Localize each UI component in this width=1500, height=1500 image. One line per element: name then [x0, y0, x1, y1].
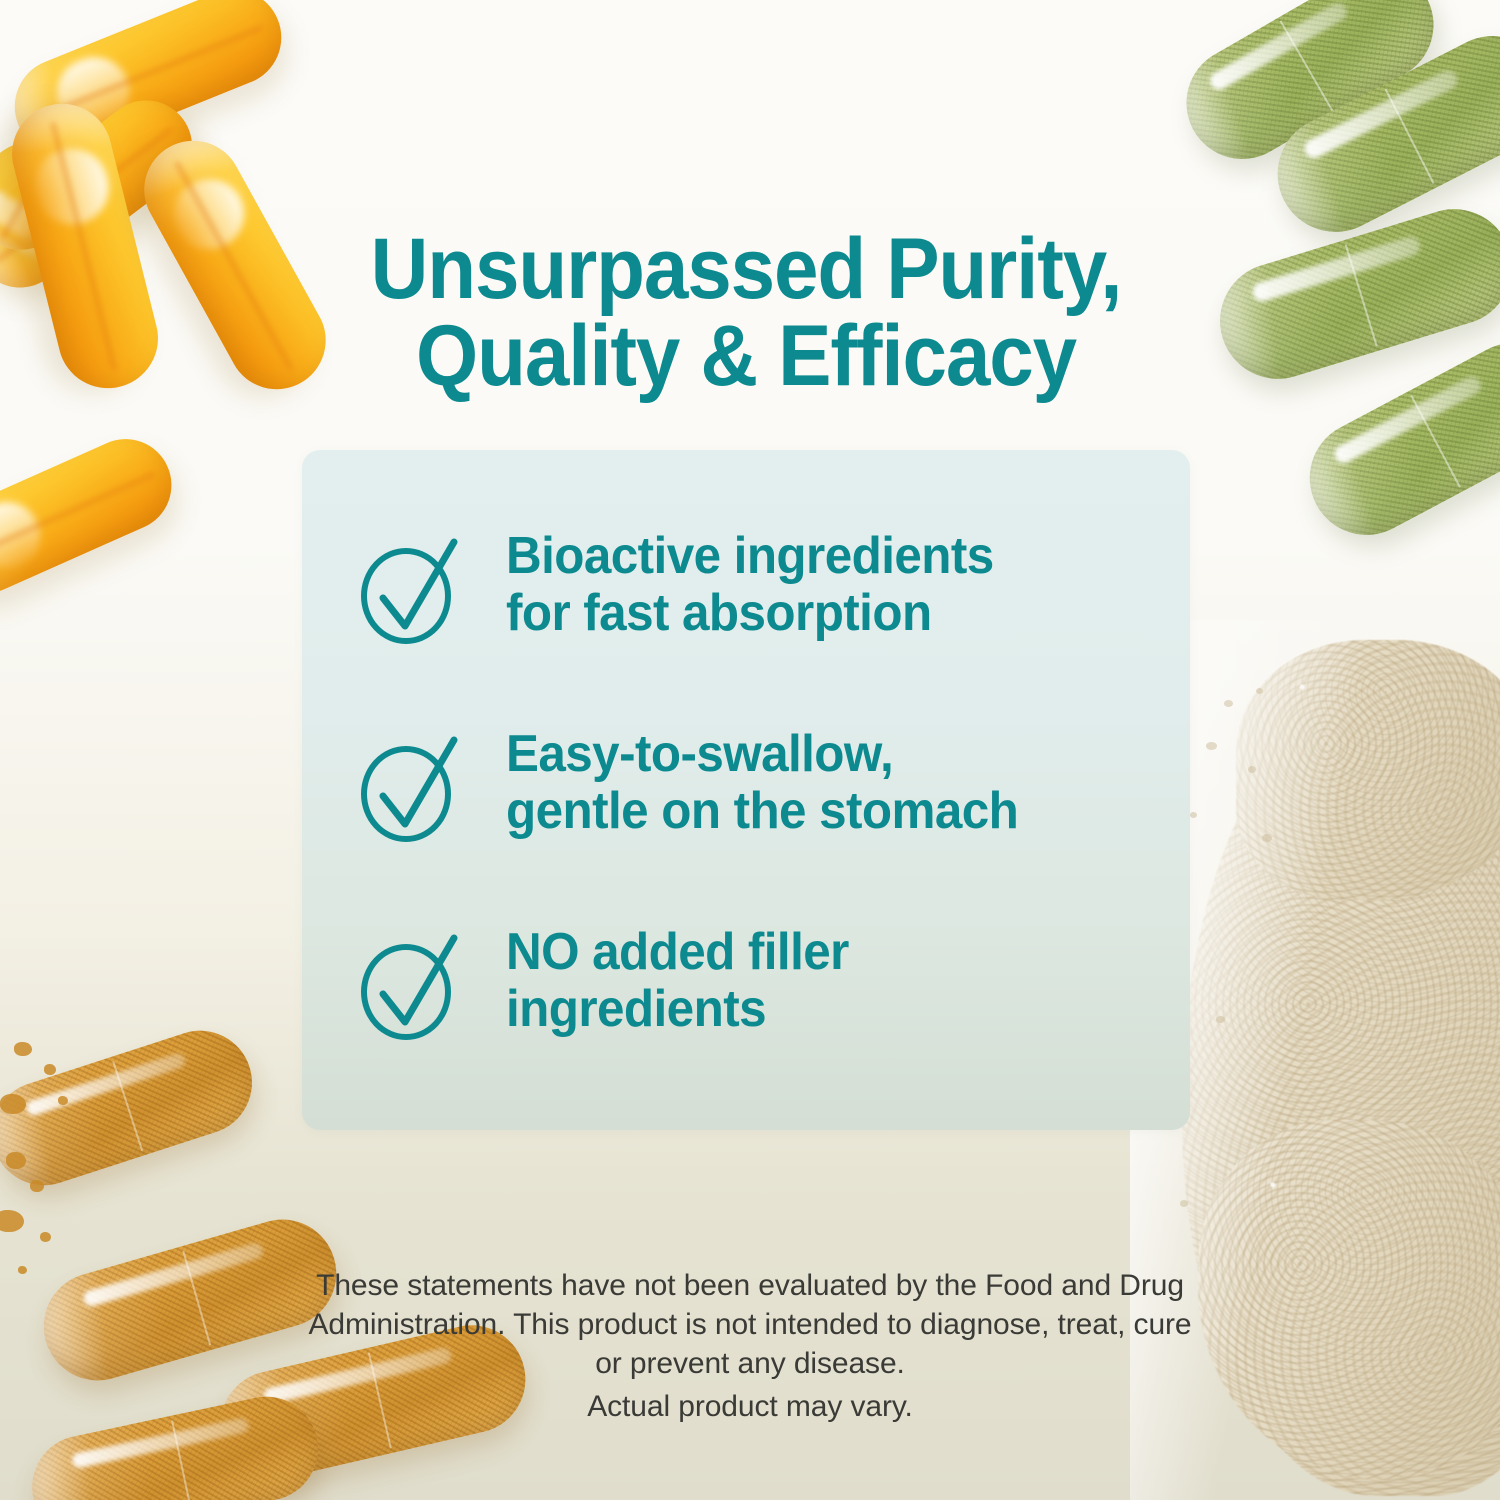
check-circle-icon — [350, 530, 470, 646]
benefit-label: Easy-to-swallow, gentle on the stomach — [506, 724, 1018, 840]
product-variance-note: Actual product may vary. — [300, 1390, 1200, 1424]
benefit-label: Bioactive ingredients for fast absorptio… — [506, 526, 994, 642]
benefits-list: Bioactive ingredients for fast absorptio… — [350, 526, 1150, 1042]
benefits-card: Bioactive ingredients for fast absorptio… — [302, 450, 1190, 1130]
page-title: Unsurpassed Purity, Quality & Efficacy — [333, 226, 1159, 401]
benefit-item: NO added filler ingredients — [350, 922, 1150, 1042]
check-circle-icon — [350, 728, 470, 844]
check-circle-icon — [350, 926, 470, 1042]
benefit-item: Easy-to-swallow, gentle on the stomach — [350, 724, 1150, 844]
fda-disclaimer: These statements have not been evaluated… — [300, 1266, 1200, 1383]
benefit-item: Bioactive ingredients for fast absorptio… — [350, 526, 1150, 646]
benefit-label: NO added filler ingredients — [506, 922, 849, 1038]
product-infographic: Unsurpassed Purity, Quality & Efficacy B… — [0, 0, 1500, 1500]
